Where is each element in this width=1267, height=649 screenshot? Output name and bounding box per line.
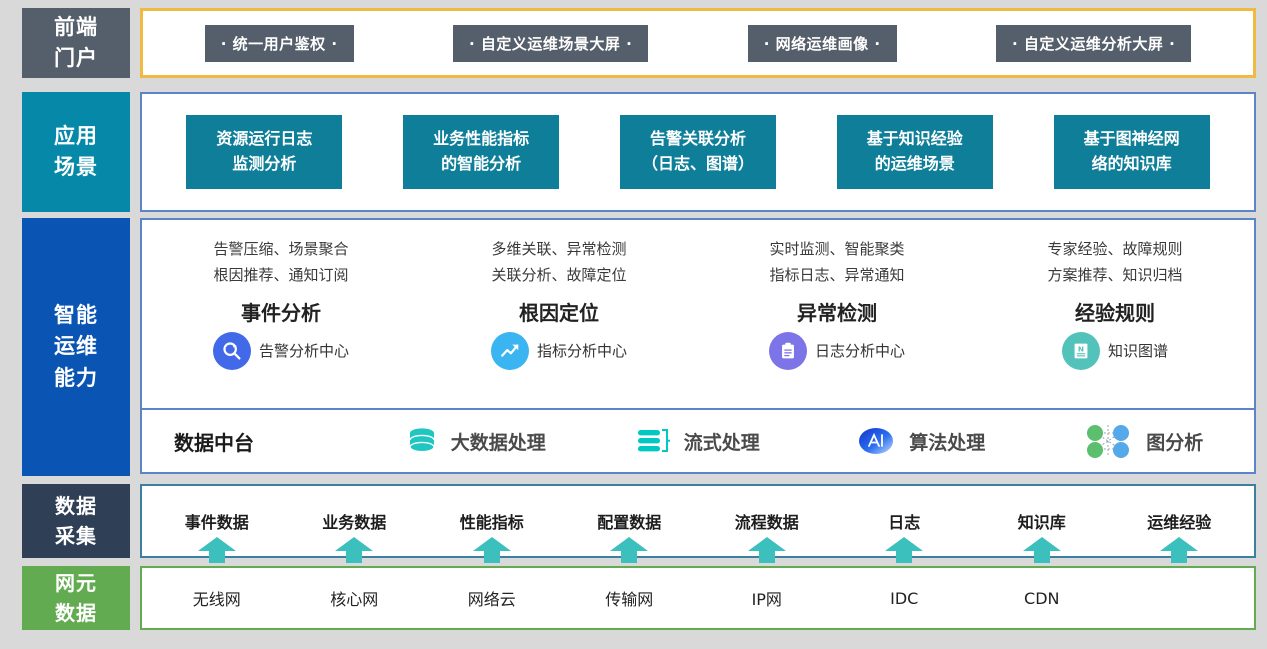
row-label-line: 应用 <box>54 121 98 153</box>
collection-item-label: 知识库 <box>1018 509 1066 533</box>
capability-detail-line: 指标日志、异常通知 <box>769 262 904 288</box>
capability-title: 经验规则 <box>1075 297 1155 326</box>
capability-detail-line: 多维关联、异常检测 <box>491 236 626 262</box>
app-card-business-kpi[interactable]: 业务性能指标 的智能分析 <box>403 115 559 189</box>
collection-item-ops-experience[interactable]: 运维经验 <box>1111 486 1249 556</box>
app-card-line: 资源运行日志 <box>198 127 330 152</box>
app-card-line: 告警关联分析 <box>632 127 764 152</box>
architecture-diagram: 前端 门户 · 统一用户鉴权 · · 自定义运维场景大屏 · · 网络运维画像 … <box>0 0 1267 649</box>
network-item-idc[interactable]: IDC <box>836 589 974 608</box>
front-portal-panel: · 统一用户鉴权 · · 自定义运维场景大屏 · · 网络运维画像 · · 自定… <box>140 8 1256 78</box>
network-element-panel: 无线网 核心网 网络云 传输网 IP网 IDC CDN <box>140 566 1256 630</box>
aiops-panels: 告警压缩、场景聚合 根因推荐、通知订阅 事件分析 告警分析中心 <box>140 218 1256 476</box>
collection-item-label: 业务数据 <box>322 509 386 533</box>
log-clipboard-icon <box>769 332 807 370</box>
network-item-cdn[interactable]: CDN <box>973 589 1111 608</box>
stream-icon <box>636 426 672 456</box>
app-card-line: 的运维场景 <box>849 152 981 177</box>
row-label-line: 能力 <box>54 363 98 395</box>
collection-item-label: 运维经验 <box>1147 509 1211 533</box>
data-platform-item-graph[interactable]: 图分析 <box>1032 422 1255 460</box>
row-data-collection: 数据 采集 事件数据 业务数据 性能指标 配置数据 流程数据 <box>22 484 1256 558</box>
data-platform-panel: 数据中台 大数据处理 <box>140 408 1256 474</box>
app-card-line: 的智能分析 <box>415 152 547 177</box>
capability-detail-lines: 实时监测、智能聚类 指标日志、异常通知 <box>769 236 904 289</box>
collection-item-business-data[interactable]: 业务数据 <box>286 486 424 556</box>
portal-chip-custom-analysis-dashboard[interactable]: · 自定义运维分析大屏 · <box>996 25 1191 62</box>
capability-detail-line: 方案推荐、知识归档 <box>1047 262 1182 288</box>
capability-title: 异常检测 <box>797 297 877 326</box>
collection-item-process-data[interactable]: 流程数据 <box>698 486 836 556</box>
capability-product[interactable]: 告警分析中心 <box>213 332 349 370</box>
app-card-knowledge-experience[interactable]: 基于知识经验 的运维场景 <box>837 115 993 189</box>
capability-root-cause-location[interactable]: 多维关联、异常检测 关联分析、故障定位 根因定位 指标分析中心 <box>420 220 698 408</box>
row-label-line: 前端 <box>54 12 98 44</box>
data-platform-item-bigdata[interactable]: 大数据处理 <box>364 426 587 456</box>
network-item-transport[interactable]: 传输网 <box>561 586 699 610</box>
capability-detail-line: 关联分析、故障定位 <box>491 262 626 288</box>
row-application-scenarios: 应用 场景 资源运行日志 监测分析 业务性能指标 的智能分析 告警关联分析 （日… <box>22 92 1256 212</box>
ai-icon <box>855 425 897 457</box>
row-label-application-scenarios: 应用 场景 <box>22 92 130 212</box>
collection-item-label: 事件数据 <box>185 509 249 533</box>
row-label-line: 运维 <box>54 331 98 363</box>
row-label-line: 场景 <box>54 152 98 184</box>
row-label-aiops-capability: 智能 运维 能力 <box>22 218 130 476</box>
collection-item-label: 日志 <box>888 509 920 533</box>
collection-item-label: 配置数据 <box>597 509 661 533</box>
collection-item-performance-kpi[interactable]: 性能指标 <box>423 486 561 556</box>
network-item-core[interactable]: 核心网 <box>286 586 424 610</box>
row-network-element-data: 网元 数据 无线网 核心网 网络云 传输网 IP网 IDC CDN <box>22 566 1256 630</box>
app-card-line: 监测分析 <box>198 152 330 177</box>
capability-detail-line: 实时监测、智能聚类 <box>769 236 904 262</box>
app-card-resource-log[interactable]: 资源运行日志 监测分析 <box>186 115 342 189</box>
row-aiops-capability: 智能 运维 能力 告警压缩、场景聚合 根因推荐、通知订阅 事件分析 <box>22 218 1256 476</box>
portal-chip-unified-auth[interactable]: · 统一用户鉴权 · <box>205 25 354 62</box>
row-label-front-portal: 前端 门户 <box>22 8 130 78</box>
row-label-network-element-data: 网元 数据 <box>22 566 130 630</box>
network-item-cloud[interactable]: 网络云 <box>423 586 561 610</box>
row-front-portal: 前端 门户 · 统一用户鉴权 · · 自定义运维场景大屏 · · 网络运维画像 … <box>22 8 1256 78</box>
data-platform-item-label: 图分析 <box>1146 428 1203 455</box>
knowledge-graph-icon: N <box>1062 332 1100 370</box>
app-card-line: （日志、图谱） <box>632 152 764 177</box>
app-card-line: 络的知识库 <box>1066 152 1198 177</box>
data-platform-item-algorithm[interactable]: 算法处理 <box>809 425 1032 457</box>
collection-item-logs[interactable]: 日志 <box>836 486 974 556</box>
database-icon <box>405 426 439 456</box>
data-collection-panel: 事件数据 业务数据 性能指标 配置数据 流程数据 日志 <box>140 484 1256 558</box>
metric-trend-icon <box>491 332 529 370</box>
data-platform-item-streaming[interactable]: 流式处理 <box>587 426 810 456</box>
app-card-line: 业务性能指标 <box>415 127 547 152</box>
capability-title: 事件分析 <box>241 297 321 326</box>
capability-detail-lines: 专家经验、故障规则 方案推荐、知识归档 <box>1047 236 1182 289</box>
alert-search-icon <box>213 332 251 370</box>
capability-detail-line: 根因推荐、通知订阅 <box>213 262 348 288</box>
network-item-ip[interactable]: IP网 <box>698 586 836 610</box>
capability-experience-rules[interactable]: 专家经验、故障规则 方案推荐、知识归档 经验规则 N <box>976 220 1254 408</box>
row-label-line: 采集 <box>55 521 97 551</box>
app-card-gnn-knowledge-base[interactable]: 基于图神经网 络的知识库 <box>1054 115 1210 189</box>
row-label-line: 网元 <box>55 568 97 598</box>
collection-item-config-data[interactable]: 配置数据 <box>561 486 699 556</box>
row-label-line: 智能 <box>54 300 98 332</box>
row-label-line: 门户 <box>54 43 98 75</box>
row-label-data-collection: 数据 采集 <box>22 484 130 558</box>
network-item-wireless[interactable]: 无线网 <box>148 586 286 610</box>
collection-item-label: 流程数据 <box>735 509 799 533</box>
capability-event-analysis[interactable]: 告警压缩、场景聚合 根因推荐、通知订阅 事件分析 告警分析中心 <box>142 220 420 408</box>
capability-detail-lines: 告警压缩、场景聚合 根因推荐、通知订阅 <box>213 236 348 289</box>
app-card-line: 基于知识经验 <box>849 127 981 152</box>
data-platform-title: 数据中台 <box>142 427 364 456</box>
capability-detail-line: 专家经验、故障规则 <box>1047 236 1182 262</box>
app-card-line: 基于图神经网 <box>1066 127 1198 152</box>
capability-detail-line: 告警压缩、场景聚合 <box>213 236 348 262</box>
collection-item-event-data[interactable]: 事件数据 <box>148 486 286 556</box>
data-platform-item-label: 流式处理 <box>684 428 760 455</box>
svg-text:N: N <box>1078 344 1084 353</box>
collection-item-knowledge-base[interactable]: 知识库 <box>973 486 1111 556</box>
capability-detail-lines: 多维关联、异常检测 关联分析、故障定位 <box>491 236 626 289</box>
portal-chip-custom-ops-dashboard[interactable]: · 自定义运维场景大屏 · <box>453 25 648 62</box>
capability-product[interactable]: N 知识图谱 <box>1062 332 1168 370</box>
data-platform-item-label: 算法处理 <box>909 428 985 455</box>
row-label-line: 数据 <box>55 491 97 521</box>
aiops-capability-panel: 告警压缩、场景聚合 根因推荐、通知订阅 事件分析 告警分析中心 <box>140 218 1256 408</box>
capability-product[interactable]: 日志分析中心 <box>769 332 905 370</box>
collection-item-label: 性能指标 <box>460 509 524 533</box>
capability-anomaly-detection[interactable]: 实时监测、智能聚类 指标日志、异常通知 异常检测 <box>698 220 976 408</box>
portal-chip-network-ops-profile[interactable]: · 网络运维画像 · <box>748 25 897 62</box>
capability-product[interactable]: 指标分析中心 <box>491 332 627 370</box>
capability-product-label: 指标分析中心 <box>537 340 627 361</box>
capability-product-label: 日志分析中心 <box>815 340 905 361</box>
application-scenarios-panel: 资源运行日志 监测分析 业务性能指标 的智能分析 告警关联分析 （日志、图谱） … <box>140 92 1256 212</box>
data-platform-item-label: 大数据处理 <box>451 428 546 455</box>
row-label-line: 数据 <box>55 598 97 628</box>
app-card-alarm-correlation[interactable]: 告警关联分析 （日志、图谱） <box>620 115 776 189</box>
capability-title: 根因定位 <box>519 297 599 326</box>
capability-product-label: 知识图谱 <box>1108 340 1168 361</box>
graph-network-icon <box>1082 422 1134 460</box>
capability-product-label: 告警分析中心 <box>259 340 349 361</box>
